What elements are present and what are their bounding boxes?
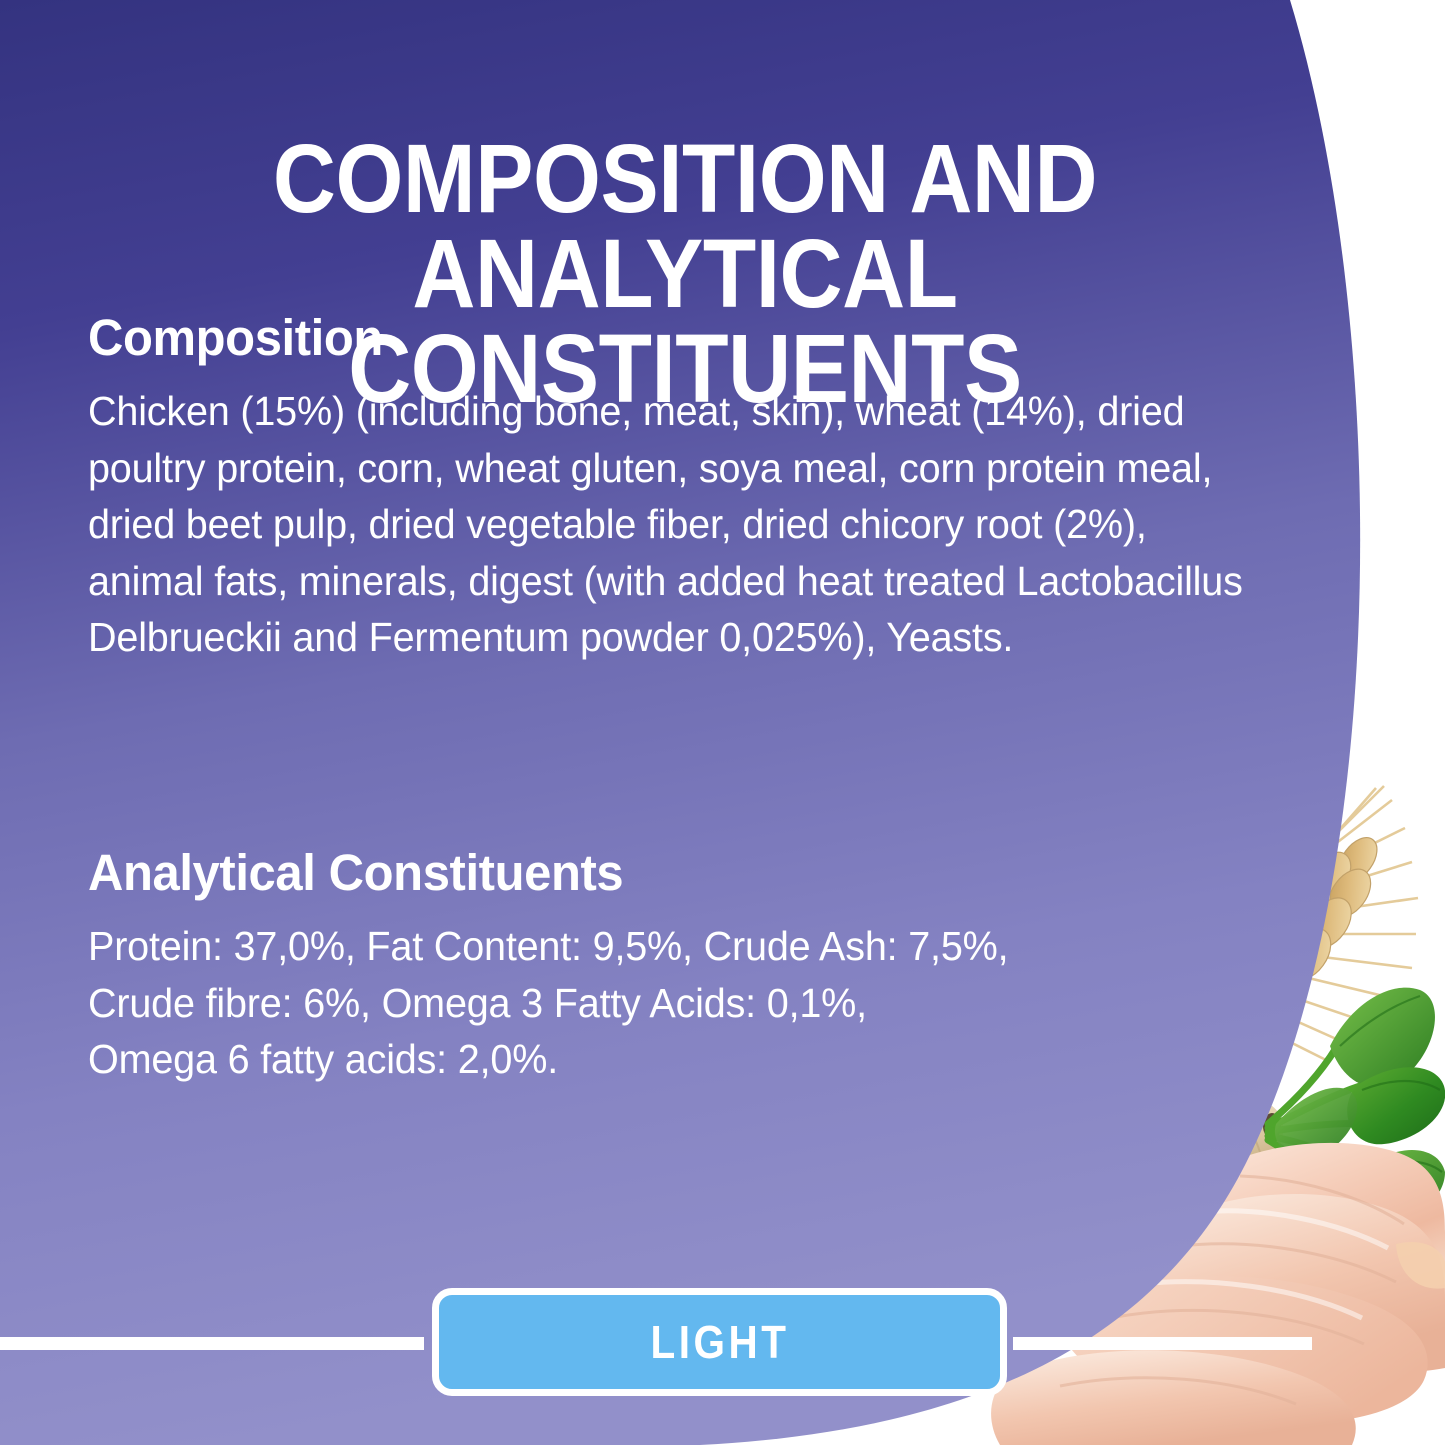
composition-heading: Composition: [88, 308, 1254, 367]
composition-panel-page: COMPOSITION AND ANALYTICAL CONSTITUENTS …: [0, 0, 1445, 1445]
composition-section: Composition Chicken (15%) (including bon…: [88, 308, 1303, 666]
light-variant-badge-label: LIGHT: [650, 1315, 789, 1369]
composition-body: Chicken (15%) (including bone, meat, ski…: [88, 383, 1260, 666]
analytical-constituents-body: Protein: 37,0%, Fat Content: 9,5%, Crude…: [88, 918, 1260, 1088]
light-variant-badge[interactable]: LIGHT: [432, 1288, 1007, 1396]
divider-line-left: [0, 1337, 424, 1350]
analytical-constituents-section: Analytical Constituents Protein: 37,0%, …: [88, 843, 1303, 1088]
divider-line-right: [1013, 1337, 1312, 1350]
analytical-constituents-heading: Analytical Constituents: [88, 843, 1254, 902]
